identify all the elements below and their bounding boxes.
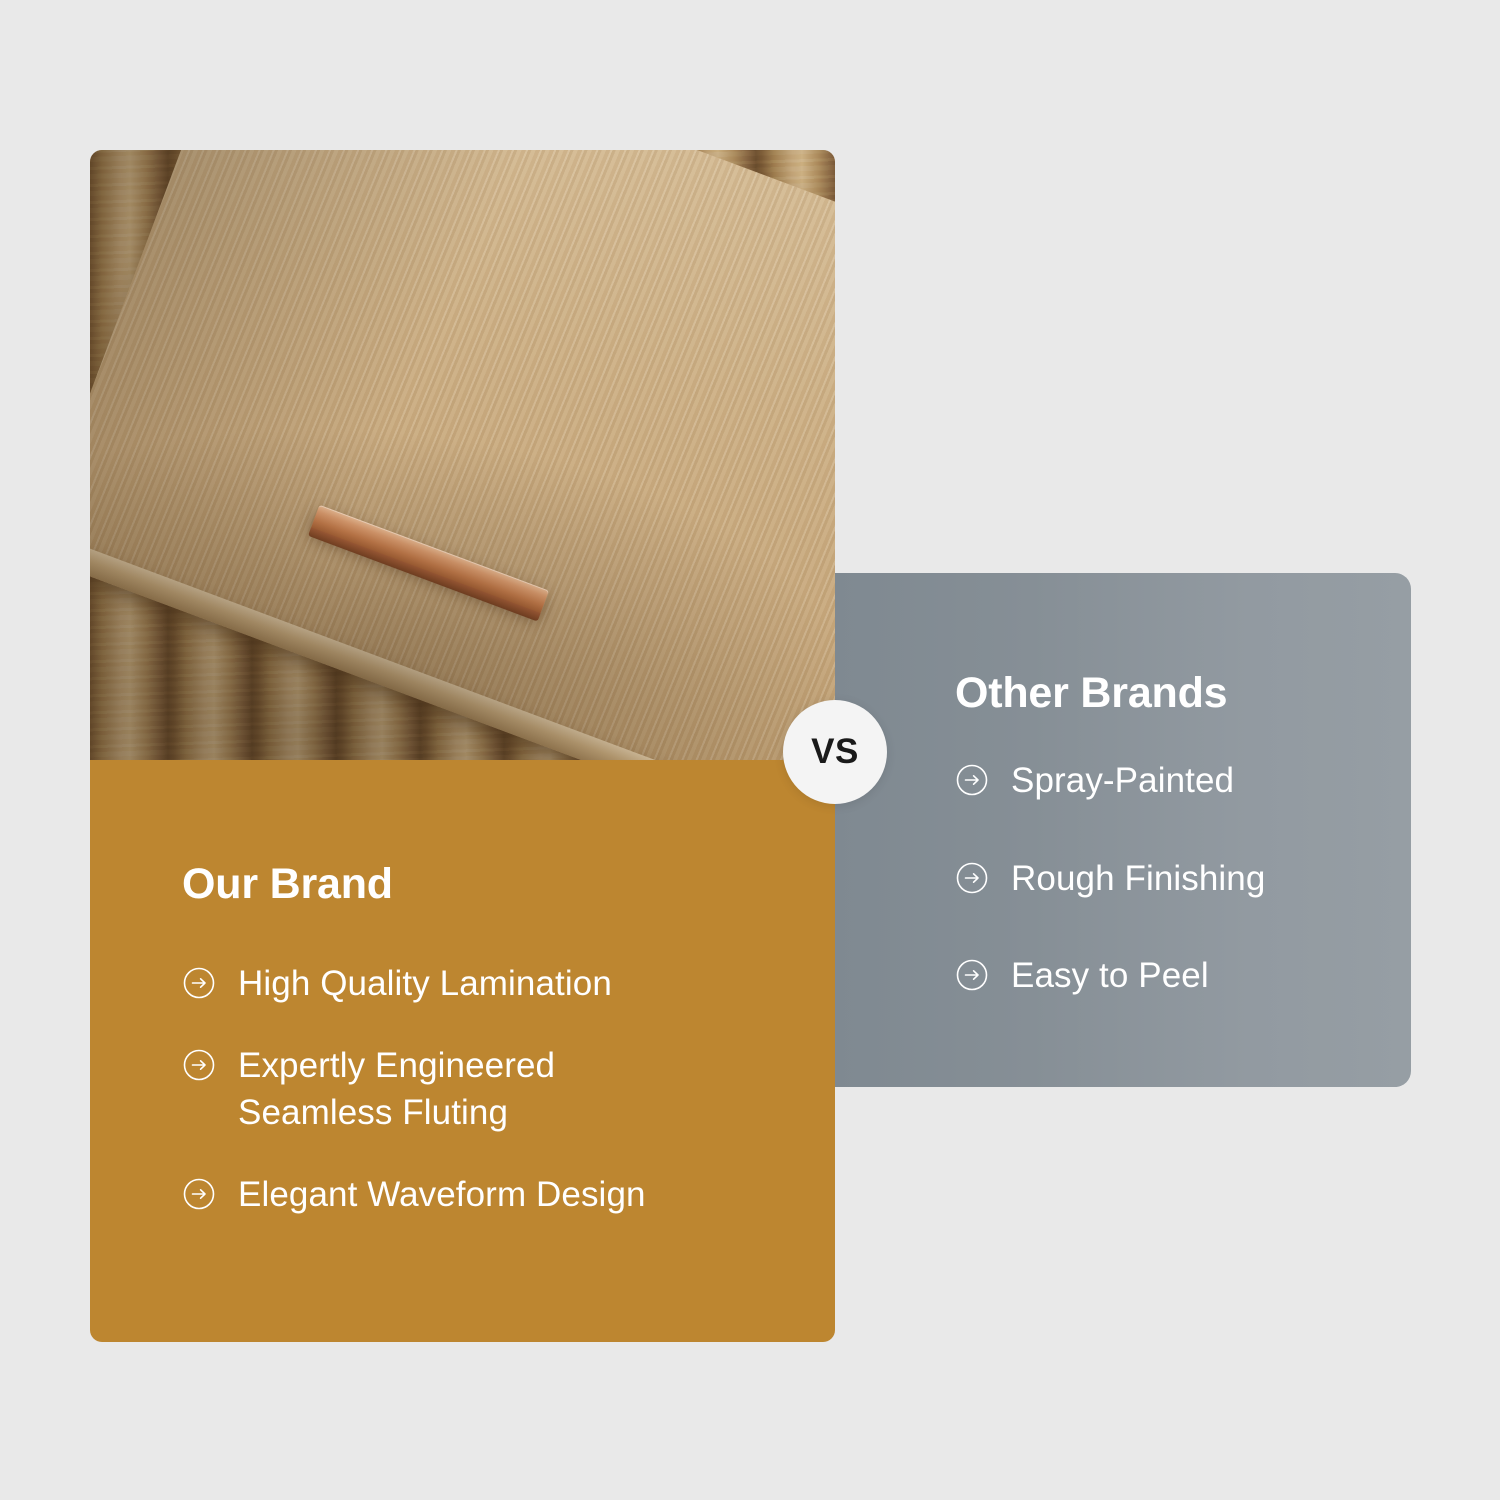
arrow-right-circle-icon: [182, 966, 216, 1000]
our-brand-feature-list: High Quality Lamination Expertly Enginee…: [182, 960, 835, 1218]
other-brands-feature-list: Spray-Painted Rough Finishing: [955, 757, 1411, 1000]
arrow-right-circle-icon: [182, 1177, 216, 1211]
list-item: Rough Finishing: [955, 855, 1411, 903]
feature-text: Expertly Engineered Seamless Fluting: [238, 1042, 555, 1137]
vs-badge: VS: [783, 700, 887, 804]
list-item: Spray-Painted: [955, 757, 1411, 805]
feature-text: Elegant Waveform Design: [238, 1171, 646, 1219]
arrow-right-circle-icon: [955, 861, 989, 895]
other-brands-title: Other Brands: [955, 672, 1411, 715]
arrow-right-circle-icon: [955, 763, 989, 797]
feature-text: High Quality Lamination: [238, 960, 612, 1008]
list-item: Easy to Peel: [955, 952, 1411, 1000]
our-brand-panel: Our Brand High Quality Lamination: [90, 760, 835, 1342]
comparison-infographic: Other Brands Spray-Painted: [0, 0, 1500, 1500]
list-item: High Quality Lamination: [182, 960, 835, 1008]
feature-text: Rough Finishing: [1011, 855, 1265, 903]
product-photo: [90, 150, 835, 762]
arrow-right-circle-icon: [955, 958, 989, 992]
list-item: Expertly Engineered Seamless Fluting: [182, 1042, 835, 1137]
our-brand-title: Our Brand: [182, 863, 835, 906]
list-item: Elegant Waveform Design: [182, 1171, 835, 1219]
feature-text: Easy to Peel: [1011, 952, 1209, 1000]
other-brands-panel: Other Brands Spray-Painted: [835, 573, 1411, 1087]
feature-text: Spray-Painted: [1011, 757, 1234, 805]
vs-label: VS: [811, 732, 859, 772]
arrow-right-circle-icon: [182, 1048, 216, 1082]
photo-shading-overlay: [90, 150, 835, 762]
